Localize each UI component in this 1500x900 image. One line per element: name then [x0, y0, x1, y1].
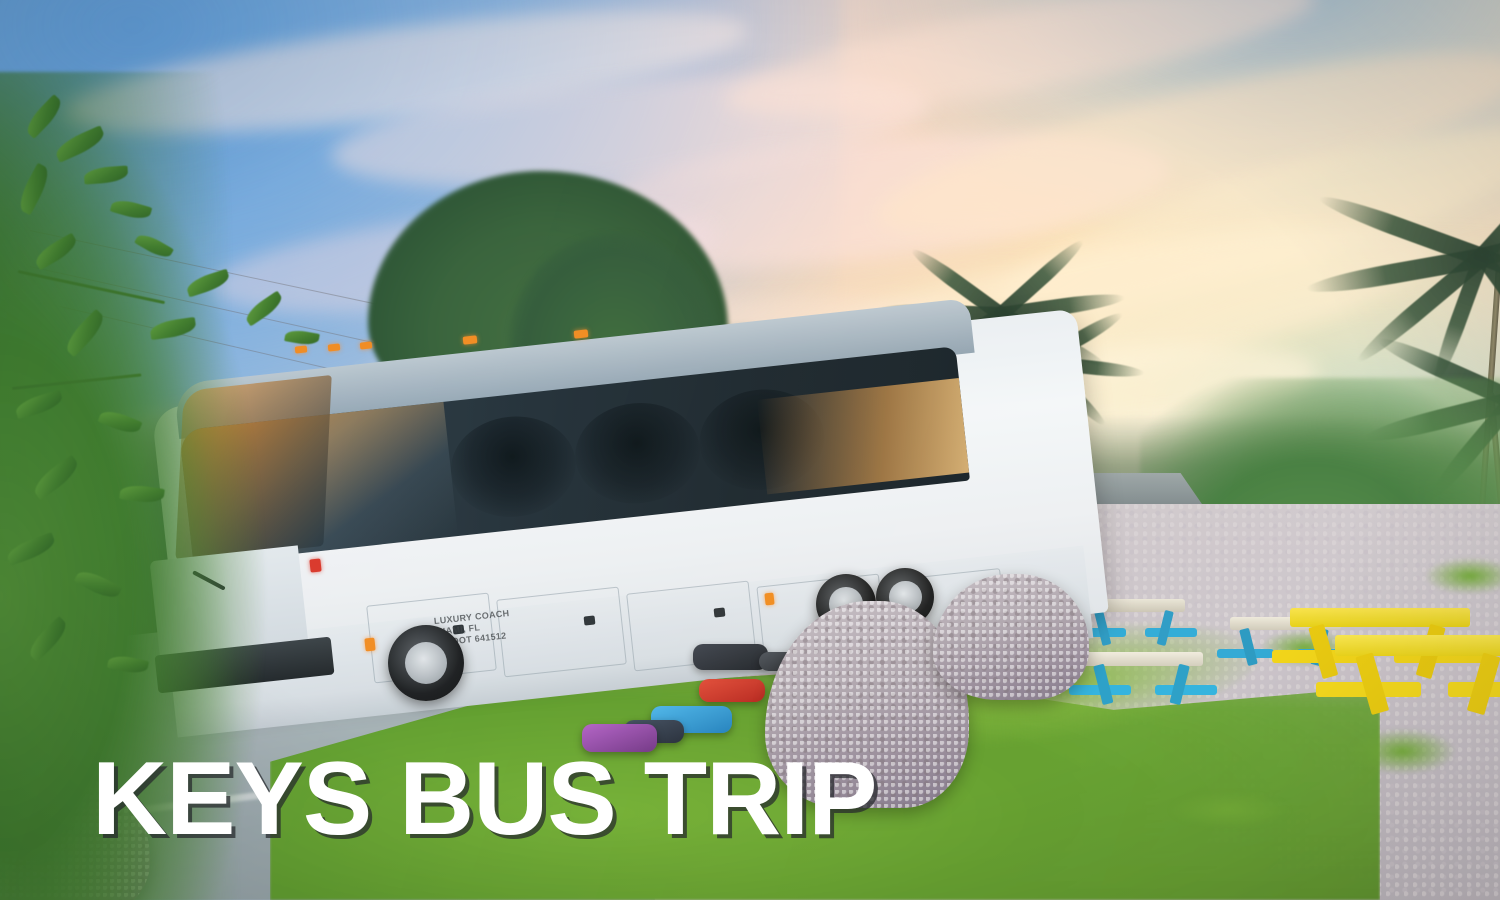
table-seat	[1155, 685, 1217, 695]
headline-line-1: KEYS BUS TRIP	[92, 737, 1079, 861]
poster-headline: KEYS BUS TRIP Labor Day Weekend Septembe…	[92, 489, 1079, 900]
table-seat	[1145, 628, 1196, 636]
table-leg	[1169, 663, 1189, 704]
roof-marker-light	[360, 342, 373, 350]
roof-marker-light	[295, 345, 308, 353]
keys-bus-trip-poster: LUXURY COACHMIAMI, FLUS DOT 641512	[0, 0, 1500, 900]
picnic-table-blue	[1083, 652, 1203, 706]
table-top	[1290, 608, 1470, 627]
table-leg	[1239, 628, 1258, 667]
picnic-table-yellow	[1335, 635, 1500, 716]
roof-marker-light	[462, 335, 477, 344]
table-leg	[1093, 663, 1113, 704]
grass-patch	[1170, 792, 1290, 828]
grass-patch	[1350, 729, 1455, 774]
table-top	[1335, 635, 1500, 656]
roof-marker-light	[327, 343, 340, 351]
roof-marker-light	[574, 330, 589, 339]
